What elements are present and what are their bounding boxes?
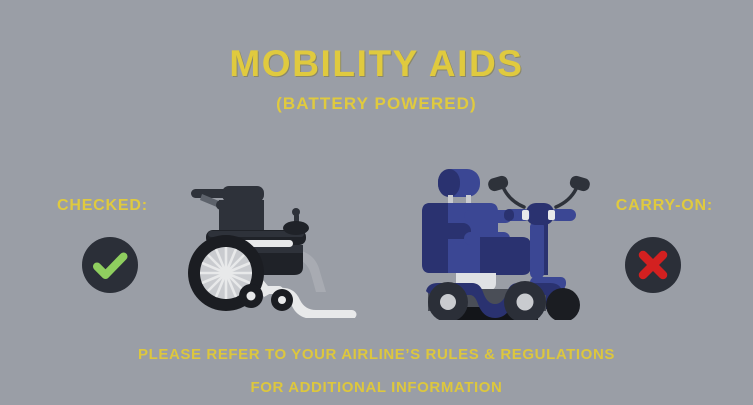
checked-label: CHECKED:	[57, 198, 148, 214]
check-mark-icon	[82, 237, 138, 293]
page-subtitle: (BATTERY POWERED)	[0, 95, 753, 112]
status-badge-carry-on	[625, 237, 681, 293]
carry-on-label: CARRY-ON:	[616, 198, 713, 214]
status-badge-checked	[82, 237, 138, 293]
page-title: MOBILITY AIDS	[0, 45, 753, 82]
footer-line-1: PLEASE REFER TO YOUR AIRLINE’S RULES & R…	[0, 347, 753, 362]
electric-wheelchair-illustration	[178, 158, 378, 323]
mobility-aids-poster: MOBILITY AIDS (BATTERY POWERED) CHECKED:…	[0, 0, 753, 405]
footer-line-2: FOR ADDITIONAL INFORMATION	[0, 380, 753, 395]
mobility-scooter-illustration	[408, 155, 608, 325]
cross-mark-icon	[625, 237, 681, 293]
